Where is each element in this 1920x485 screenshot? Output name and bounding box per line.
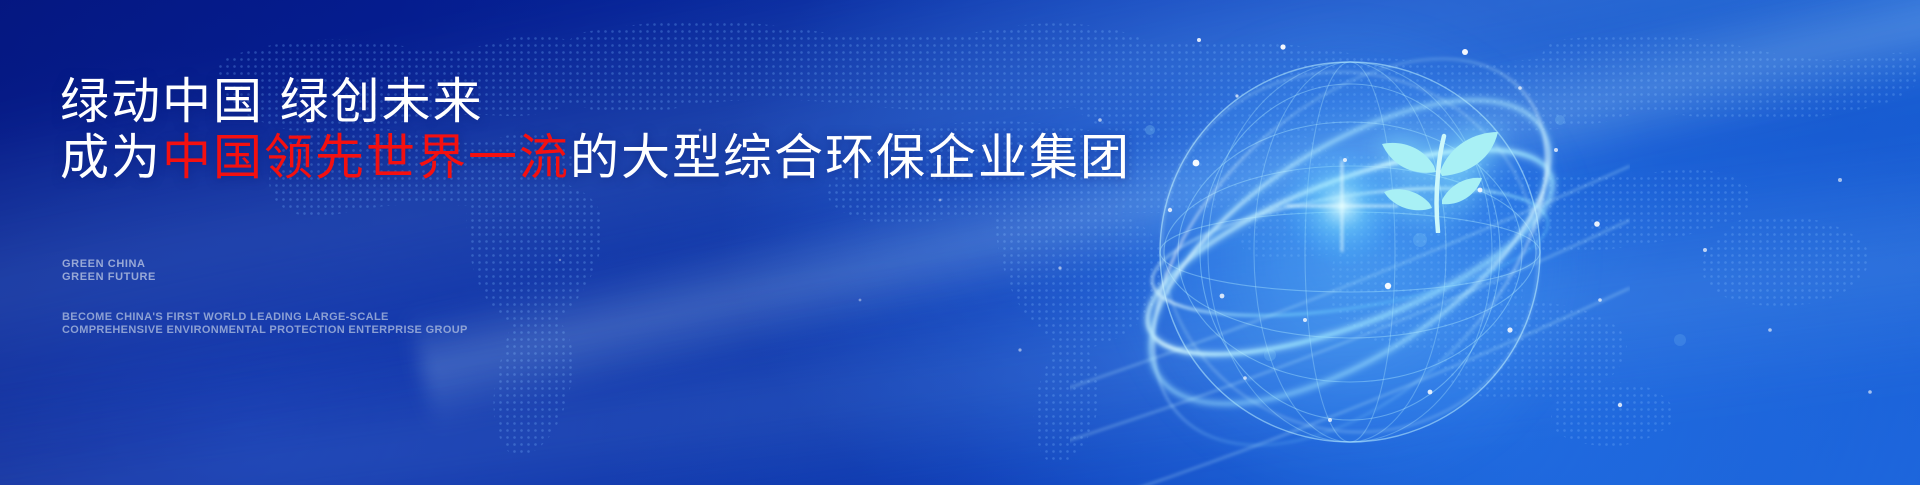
- headline-line-2-prefix: 成为: [60, 131, 162, 185]
- globe-wireframe-icon: [1070, 0, 1630, 485]
- headline-line-2: 成为中国领先世界一流的大型综合环保企业集团: [60, 134, 1131, 183]
- slogan-english: GREEN CHINA GREEN FUTURE: [62, 258, 156, 284]
- description-english-line-1: BECOME CHINA'S FIRST WORLD LEADING LARGE…: [62, 311, 468, 324]
- description-english: BECOME CHINA'S FIRST WORLD LEADING LARGE…: [62, 311, 468, 337]
- headline-line-2-suffix: 的大型综合环保企业集团: [570, 131, 1131, 185]
- headline-line-2-highlight: 中国领先世界一流: [162, 131, 570, 185]
- hero-banner: 绿动中国 绿创未来 成为中国领先世界一流的大型综合环保企业集团 GREEN CH…: [0, 0, 1920, 485]
- headline-line-1: 绿动中国 绿创未来: [60, 78, 484, 127]
- slogan-english-line-1: GREEN CHINA: [62, 258, 156, 271]
- description-english-line-2: COMPREHENSIVE ENVIRONMENTAL PROTECTION E…: [62, 324, 468, 337]
- banner-copy: 绿动中国 绿创未来 成为中国领先世界一流的大型综合环保企业集团 GREEN CH…: [60, 0, 1060, 485]
- globe-glow: [1110, 10, 1590, 485]
- slogan-english-line-2: GREEN FUTURE: [62, 271, 156, 284]
- sprout-icon: [1372, 108, 1502, 233]
- globe-graphic: [1070, 0, 1630, 485]
